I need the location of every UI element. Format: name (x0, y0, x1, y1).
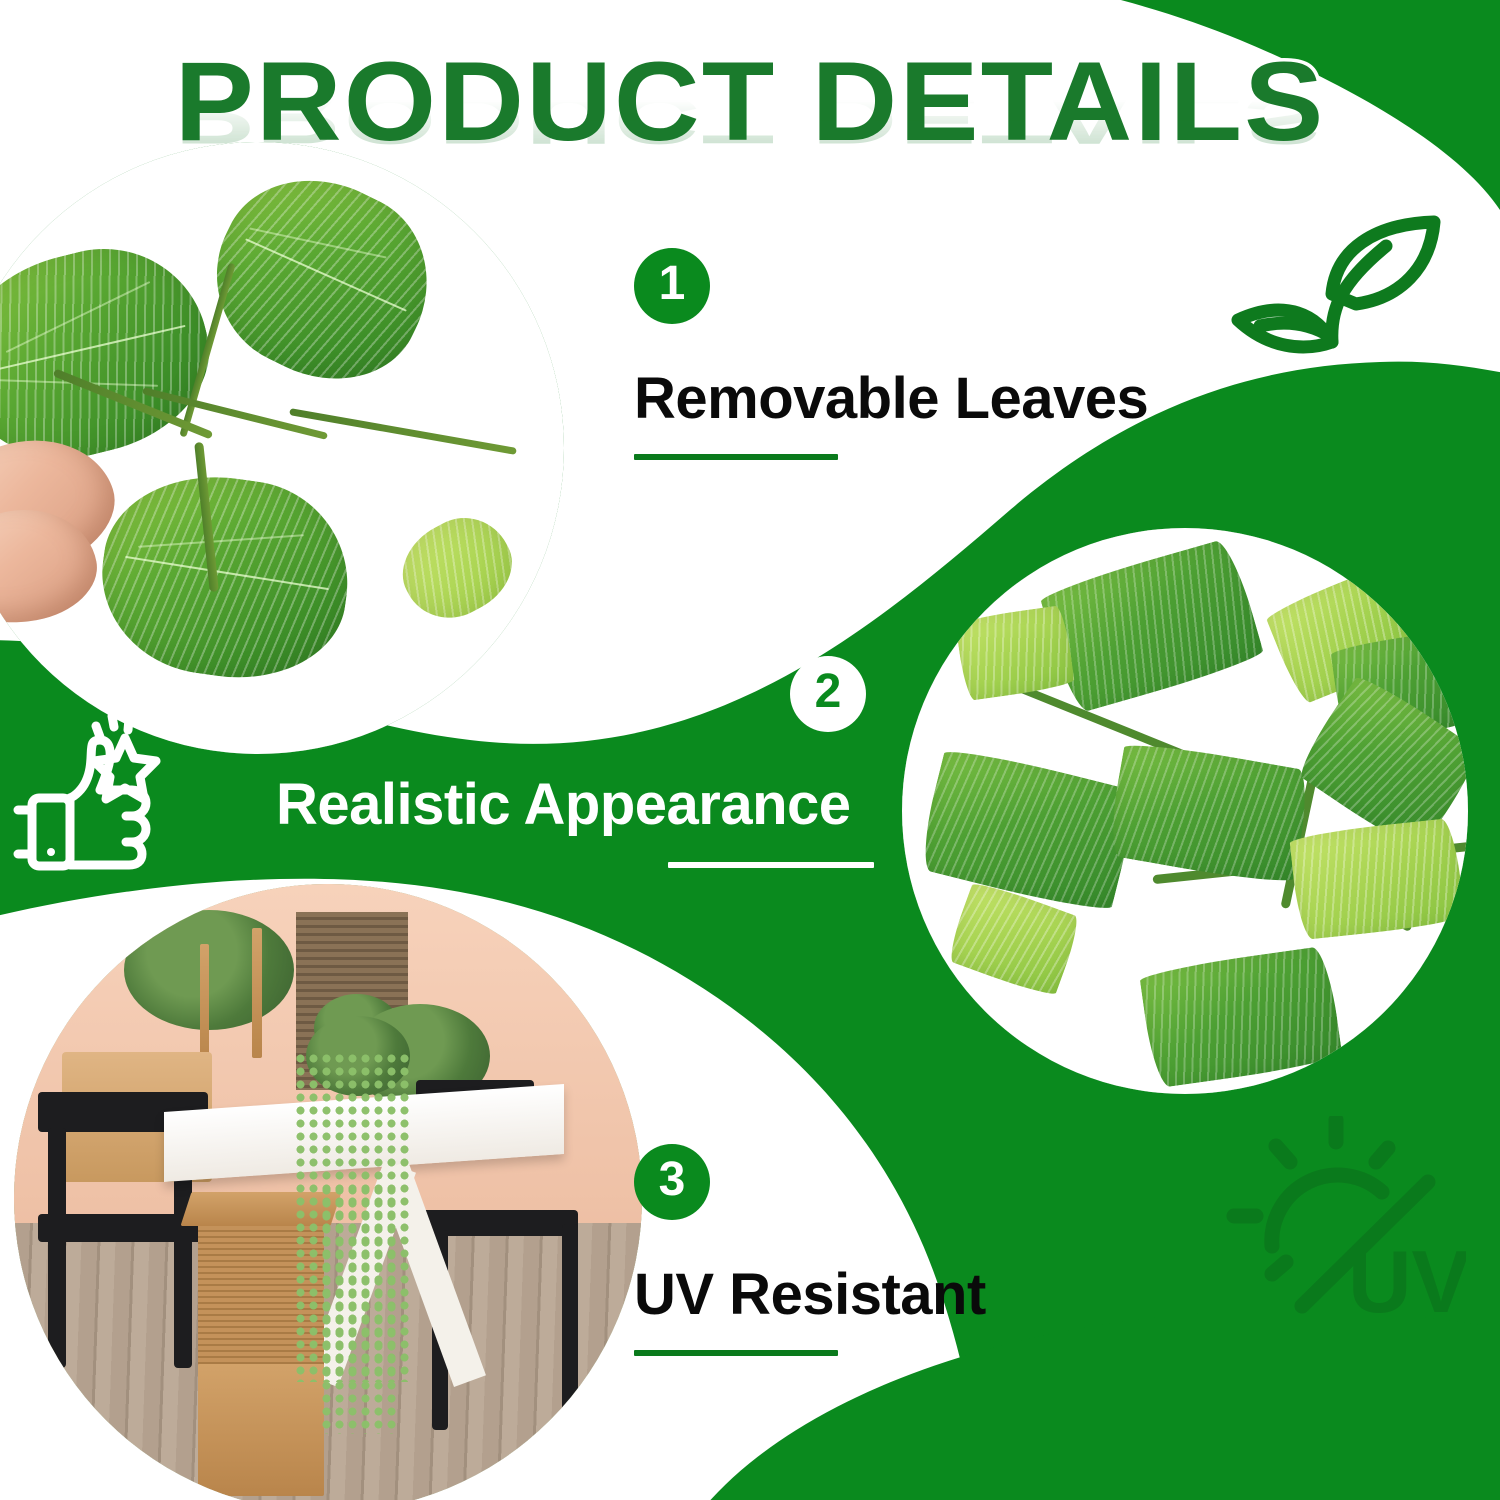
uv-sun-icon: UV (1216, 1116, 1466, 1322)
feature-3-number-badge: 3 (634, 1144, 710, 1220)
uv-icon-label: UV (1348, 1232, 1466, 1322)
feature-1-number: 1 (659, 260, 686, 308)
feature-2-number-badge: 2 (790, 656, 866, 732)
feature-2-text: Realistic Appearance (276, 776, 874, 868)
feature-3: 3 UV Resistant (634, 1144, 986, 1356)
feature-3-number: 3 (659, 1156, 686, 1204)
feature-2-number: 2 (815, 668, 842, 716)
feature-2-label: Realistic Appearance (276, 776, 874, 834)
thumbs-up-star-icon (8, 706, 194, 882)
product-details-infographic: PRODUCT DETAILS PRODUCT DETAILS (0, 0, 1500, 1500)
photo-2-content (902, 528, 1468, 1094)
feature-3-rule (634, 1350, 838, 1356)
feature-1-number-badge: 1 (634, 248, 710, 324)
feature-1-rule (634, 454, 838, 460)
outdoor-patio-table-photo (14, 884, 642, 1500)
feature-3-label: UV Resistant (634, 1266, 986, 1324)
feature-1: 1 Removable Leaves (634, 248, 1148, 460)
hand-holding-removable-leaf-photo (0, 142, 564, 754)
photo-1-content (0, 142, 564, 754)
feature-2: 2 (790, 656, 866, 732)
feature-1-label: Removable Leaves (634, 370, 1148, 428)
photo-3-content (14, 884, 642, 1500)
artificial-leaf-vine-photo (902, 528, 1468, 1094)
feature-2-rule (668, 862, 874, 868)
leaf-sprout-icon (1224, 212, 1452, 372)
